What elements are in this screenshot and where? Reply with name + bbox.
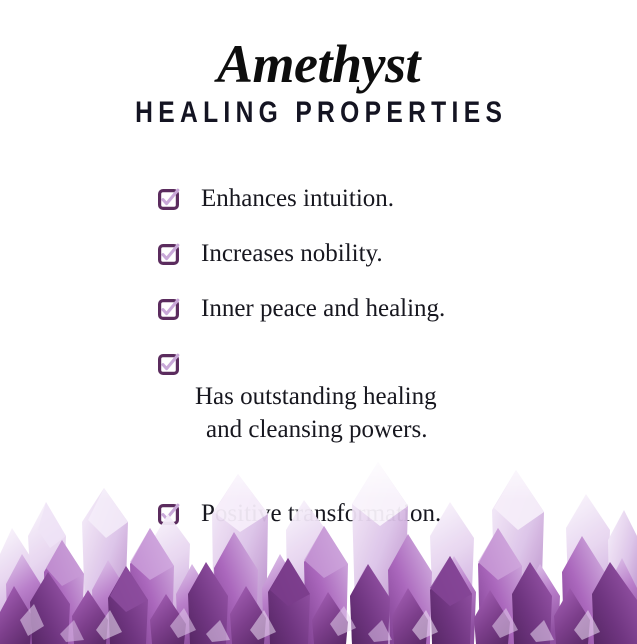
list-item: Increases nobility.: [158, 237, 578, 270]
list-item: Inner peace and healing.: [158, 292, 578, 325]
checked-checkbox-icon: [158, 244, 179, 265]
list-item-label: Inner peace and healing.: [201, 292, 445, 325]
amethyst-crystal-cluster-image: [0, 444, 637, 644]
list-item: Enhances intuition.: [158, 182, 578, 215]
checked-checkbox-icon: [158, 189, 179, 210]
poster-canvas: Amethyst HEALING PROPERTIES Enhances int…: [0, 0, 637, 644]
page-subtitle: HEALING PROPERTIES: [57, 96, 579, 130]
list-item-line: and cleansing powers.: [195, 413, 437, 446]
checked-checkbox-icon: [158, 299, 179, 320]
list-item-line: Has outstanding healing: [195, 383, 437, 410]
heading-block: Amethyst HEALING PROPERTIES: [0, 34, 637, 130]
list-item-label: Enhances intuition.: [201, 182, 394, 215]
list-item-label: Increases nobility.: [201, 237, 383, 270]
page-title: Amethyst: [0, 34, 637, 94]
checked-checkbox-icon: [158, 354, 179, 375]
